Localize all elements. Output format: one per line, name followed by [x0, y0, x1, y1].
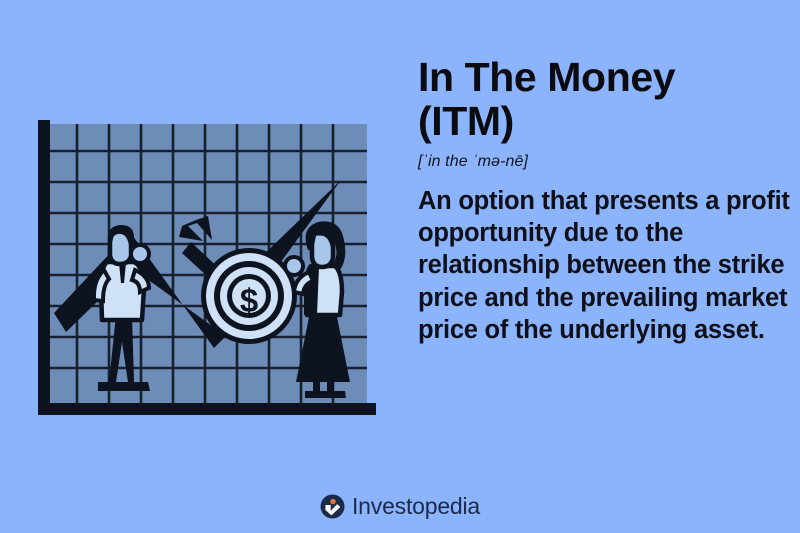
- page-title: In The Money (ITM): [418, 56, 790, 144]
- definition-text-column: In The Money (ITM) [ˈin the ˈmə-nē] An o…: [418, 56, 790, 347]
- definition-text: An option that presents a profit opportu…: [418, 185, 790, 347]
- investopedia-logo-icon: [320, 494, 345, 519]
- stock-chart-illustration: $: [36, 120, 376, 415]
- illustration-svg: $: [36, 120, 376, 415]
- brand-footer: Investopedia: [0, 494, 800, 519]
- definition-card: $: [0, 0, 800, 533]
- dollar-sign-icon: $: [240, 282, 258, 319]
- brand-wordmark: Investopedia: [352, 495, 480, 518]
- term-title-line-1: In The Money: [418, 54, 675, 100]
- term-title-line-2: (ITM): [418, 98, 514, 144]
- pronunciation-text: [ˈin the ˈmə-nē]: [418, 153, 790, 171]
- dartboard-target: $: [201, 248, 297, 344]
